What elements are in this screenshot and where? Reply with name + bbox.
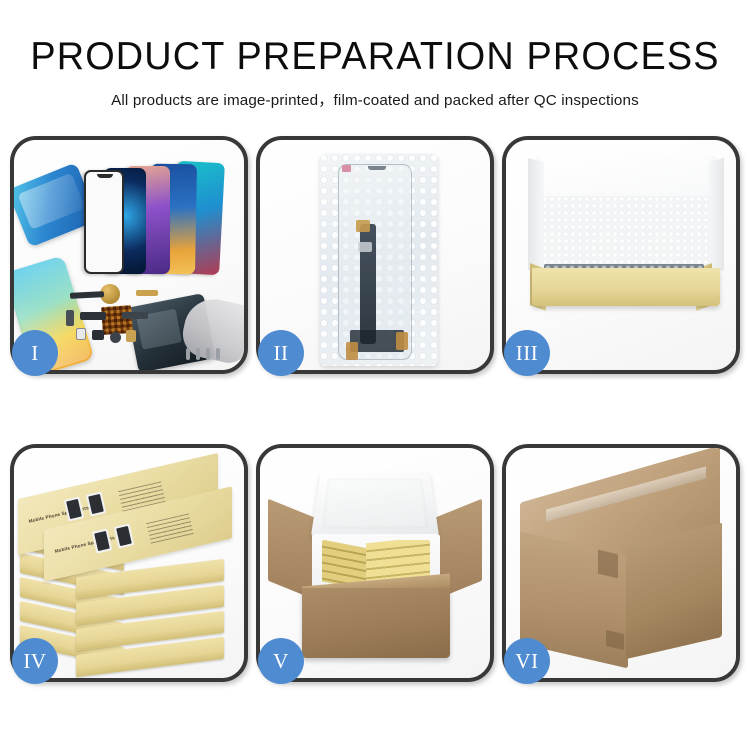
process-step-panel-3[interactable]: III xyxy=(502,136,740,374)
silver-connector-icon xyxy=(358,242,372,252)
speaker-part-icon xyxy=(70,291,104,299)
carton-seam-mark-upper xyxy=(598,550,618,579)
gold-connector-icon xyxy=(356,220,370,232)
process-step-panel-5[interactable]: V xyxy=(256,444,494,682)
gold-contact-part-icon xyxy=(126,330,136,342)
connector-part-icon xyxy=(122,312,148,319)
carton-front-panel-icon xyxy=(302,588,450,658)
screen-notch-icon xyxy=(368,166,386,170)
step-badge-6: VI xyxy=(504,638,550,684)
module-part-icon xyxy=(92,330,104,340)
pink-qc-sticker-icon xyxy=(342,165,351,172)
process-step-panel-6[interactable]: VI xyxy=(502,444,740,682)
step-badge-2: II xyxy=(258,330,304,376)
process-step-panel-4[interactable]: Mobile Phone Spare Parts Mobile Phone Sp… xyxy=(10,444,248,682)
foam-box-lid-icon xyxy=(311,471,440,538)
foam-sheet-icon xyxy=(542,196,710,274)
step-badge-4: IV xyxy=(12,638,58,684)
screws-group-icon xyxy=(186,348,230,364)
yellow-box-stack-left xyxy=(322,540,368,586)
phone-fan-group xyxy=(82,156,242,274)
carton-right-face-icon xyxy=(626,523,722,659)
kraft-inner-box-icon xyxy=(532,268,720,306)
process-step-panel-2[interactable]: II xyxy=(256,136,494,374)
sim-tray-part-icon xyxy=(76,328,86,340)
gold-flex-part-icon xyxy=(136,290,158,296)
page-header: PRODUCT PREPARATION PROCESS All products… xyxy=(0,0,750,112)
button-part-icon xyxy=(66,310,74,326)
page-title: PRODUCT PREPARATION PROCESS xyxy=(11,34,739,80)
step-badge-1: I xyxy=(12,330,58,376)
gold-tab-right-icon xyxy=(396,332,408,350)
step-badge-3: III xyxy=(504,330,550,376)
camera-part-icon xyxy=(110,332,121,343)
product-preparation-process-page: PRODUCT PREPARATION PROCESS All products… xyxy=(0,0,750,750)
step-badge-5: V xyxy=(258,638,304,684)
flex-cable-part-icon xyxy=(80,312,106,320)
process-step-grid: I II xyxy=(10,136,740,684)
phone-white-icon xyxy=(84,170,124,274)
page-subtitle: All products are image-printed，film-coat… xyxy=(0,90,750,112)
process-step-panel-1[interactable]: I xyxy=(10,136,248,374)
bubble-wrap-bag-icon xyxy=(320,154,438,366)
gold-tab-left-icon xyxy=(346,342,358,360)
